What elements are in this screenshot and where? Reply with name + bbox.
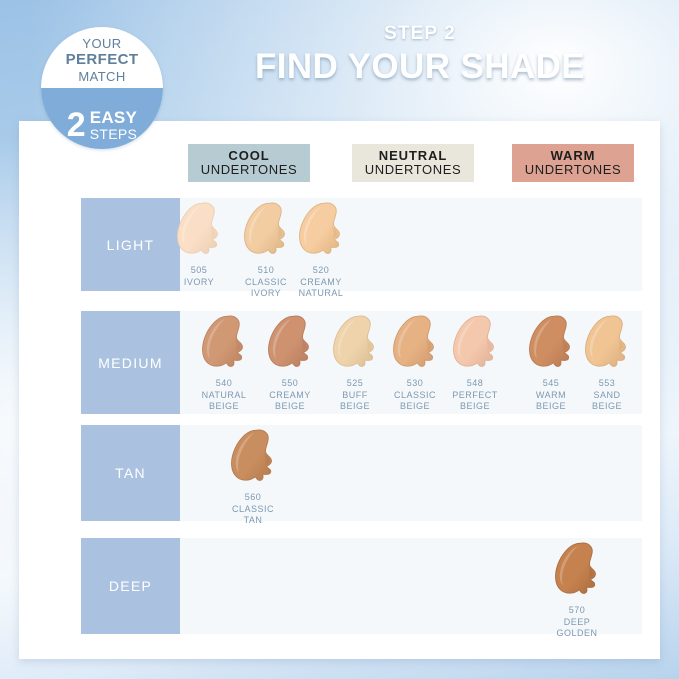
shade-code: 550 [254, 378, 326, 390]
badge-bottom-text: 2 EASY STEPS [41, 109, 163, 141]
shade-swatch-525 [327, 314, 383, 376]
badge-line-your: YOUR [41, 36, 163, 51]
shade-name: IVORY [163, 277, 235, 289]
shade-name: CREAMY BEIGE [254, 390, 326, 413]
swatch-shape [293, 201, 349, 263]
undertone-title: COOL [228, 149, 269, 163]
shade-swatch-550 [262, 314, 318, 376]
undertone-header-cool: COOLUNDERTONES [188, 144, 310, 182]
shade-code: 540 [188, 378, 260, 390]
badge-easy-steps: EASY STEPS [90, 109, 138, 141]
row-label-medium: MEDIUM [81, 311, 180, 414]
shade-name: PERFECT BEIGE [439, 390, 511, 413]
shade-cell-548[interactable]: 548PERFECT BEIGE [439, 314, 511, 413]
shade-cell-553[interactable]: 553SAND BEIGE [571, 314, 643, 413]
shade-cell-560[interactable]: 560CLASSIC TAN [217, 428, 289, 527]
undertone-title: WARM [551, 149, 596, 163]
undertone-subtitle: UNDERTONES [525, 163, 622, 177]
shade-swatch-560 [225, 428, 281, 490]
shade-cell-570[interactable]: 570DEEP GOLDEN [541, 541, 613, 640]
undertone-title: NEUTRAL [379, 149, 447, 163]
undertone-header-neutral: NEUTRALUNDERTONES [352, 144, 474, 182]
shade-row-tan: TAN [81, 425, 642, 521]
shade-name: SAND BEIGE [571, 390, 643, 413]
badge-line-perfect: PERFECT [41, 51, 163, 69]
shade-cell-505[interactable]: 505IVORY [163, 201, 235, 288]
shade-finder-infographic: STEP 2 FIND YOUR SHADE YOUR PERFECT MATC… [0, 0, 679, 679]
swatch-shape [579, 314, 635, 376]
shade-code: 570 [541, 605, 613, 617]
shade-swatch-520 [293, 201, 349, 263]
swatch-shape [225, 428, 281, 490]
swatch-shape [262, 314, 318, 376]
shade-name: NATURAL BEIGE [188, 390, 260, 413]
shade-swatch-570 [549, 541, 605, 603]
swatch-shape [447, 314, 503, 376]
swatch-shape [171, 201, 227, 263]
badge-word-easy: EASY [90, 109, 138, 126]
shade-swatch-530 [387, 314, 443, 376]
badge-step-number: 2 [67, 110, 86, 141]
swatch-shape [327, 314, 383, 376]
shade-swatch-553 [579, 314, 635, 376]
shade-name: CREAMY NATURAL [285, 277, 357, 300]
undertone-subtitle: UNDERTONES [201, 163, 298, 177]
shade-swatch-505 [171, 201, 227, 263]
shade-code: 548 [439, 378, 511, 390]
shade-cell-520[interactable]: 520CREAMY NATURAL [285, 201, 357, 300]
shade-code: 520 [285, 265, 357, 277]
swatch-shape [549, 541, 605, 603]
shade-code: 553 [571, 378, 643, 390]
shade-cell-540[interactable]: 540NATURAL BEIGE [188, 314, 260, 413]
badge-top-text: YOUR PERFECT MATCH [41, 36, 163, 84]
page-title: FIND YOUR SHADE [200, 48, 640, 86]
undertone-subtitle: UNDERTONES [365, 163, 462, 177]
shade-code: 560 [217, 492, 289, 504]
shade-cell-550[interactable]: 550CREAMY BEIGE [254, 314, 326, 413]
swatch-shape [387, 314, 443, 376]
row-label-deep: DEEP [81, 538, 180, 634]
shade-name: DEEP GOLDEN [541, 617, 613, 640]
shade-name: CLASSIC TAN [217, 504, 289, 527]
row-label-tan: TAN [81, 425, 180, 521]
header-block: STEP 2 FIND YOUR SHADE [200, 24, 640, 86]
shade-code: 505 [163, 265, 235, 277]
undertone-header-warm: WARMUNDERTONES [512, 144, 634, 182]
step-label: STEP 2 [200, 24, 640, 45]
perfect-match-badge: YOUR PERFECT MATCH 2 EASY STEPS [41, 27, 163, 149]
swatch-shape [196, 314, 252, 376]
shade-swatch-540 [196, 314, 252, 376]
badge-line-match: MATCH [41, 69, 163, 84]
shade-swatch-548 [447, 314, 503, 376]
badge-word-steps: STEPS [90, 127, 137, 141]
